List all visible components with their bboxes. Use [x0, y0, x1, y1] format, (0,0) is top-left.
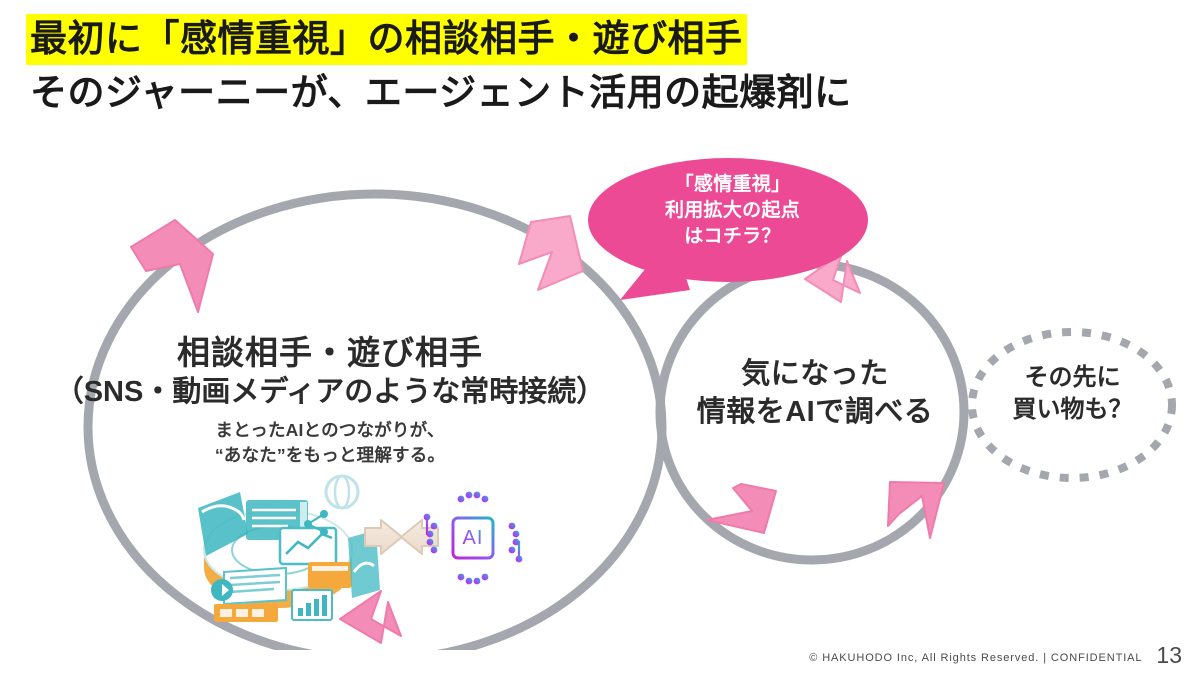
left-cycle-note-line-1: まとったAIとのつながりが、	[120, 418, 540, 443]
title-line-2: そのジャーニーが、エージェント活用の起爆剤に	[26, 69, 1176, 116]
right-cycle-text: 気になった 情報をAIで調べる	[655, 355, 975, 432]
right-cycle-line-1: 気になった	[655, 355, 975, 393]
callout-bubble-line-2: 利用拡大の起点	[600, 198, 865, 224]
dashed-ellipse-line-2: 買い物も？	[975, 394, 1170, 426]
slide-footer: © HAKUHODO Inc, All Rights Reserved. | C…	[809, 644, 1182, 667]
footer-page-number: 13	[1156, 644, 1182, 667]
cycle-diagram: AI	[0, 140, 1200, 650]
callout-bubble-line-3: はコチラ？	[600, 224, 865, 250]
callout-bubble-text: 「感情重視」 利用拡大の起点 はコチラ？	[600, 172, 865, 249]
dashed-ellipse-line-1: その先に	[975, 362, 1170, 394]
left-cycle-arrow-bottom	[340, 591, 401, 643]
media-carousel-icon	[198, 476, 380, 622]
dashed-ellipse-text: その先に 買い物も？	[975, 362, 1170, 427]
right-cycle-line-2: 情報をAIで調べる	[655, 393, 975, 431]
footer-copyright: © HAKUHODO Inc, All Rights Reserved. | C…	[809, 652, 1142, 667]
left-cycle-subtitle: （SNS・動画メディアのような常時接続）	[50, 368, 610, 410]
callout-bubble-line-1: 「感情重視」	[600, 172, 865, 198]
left-cycle-note-line-2: “あなた”をもっと理解する。	[120, 443, 540, 468]
page-title: 最初に「感情重視」の相談相手・遊び相手 そのジャーニーが、エージェント活用の起爆…	[26, 14, 1176, 117]
left-cycle-note: まとったAIとのつながりが、 “あなた”をもっと理解する。	[120, 418, 540, 469]
svg-text:AI: AI	[463, 527, 484, 549]
right-cycle-arrow-bottom-right	[888, 482, 944, 538]
title-line-1-highlighted: 最初に「感情重視」の相談相手・遊び相手	[26, 14, 747, 65]
left-cycle-arrow-top-right	[519, 216, 583, 290]
left-cycle-title: 相談相手・遊び相手	[60, 326, 600, 374]
left-cycle-arrow-top-left	[131, 220, 213, 312]
